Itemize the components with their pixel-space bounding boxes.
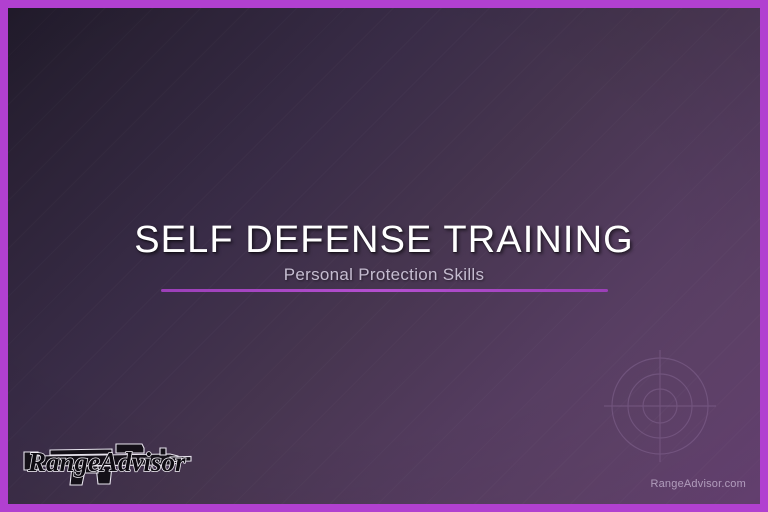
watermark-text: RangeAdvisor.com — [650, 478, 746, 490]
brand-logo: RangeAdvisor — [20, 430, 196, 490]
page-title: SELF DEFENSE TRAINING — [8, 218, 760, 262]
page-subtitle: Personal Protection Skills — [8, 264, 760, 286]
crosshair-target-icon — [604, 350, 716, 462]
title-divider — [161, 289, 608, 292]
presentation-slide: SELF DEFENSE TRAINING Personal Protectio… — [0, 0, 768, 512]
brand-wordmark: RangeAdvisor — [27, 447, 186, 477]
slide-canvas: SELF DEFENSE TRAINING Personal Protectio… — [8, 8, 760, 504]
